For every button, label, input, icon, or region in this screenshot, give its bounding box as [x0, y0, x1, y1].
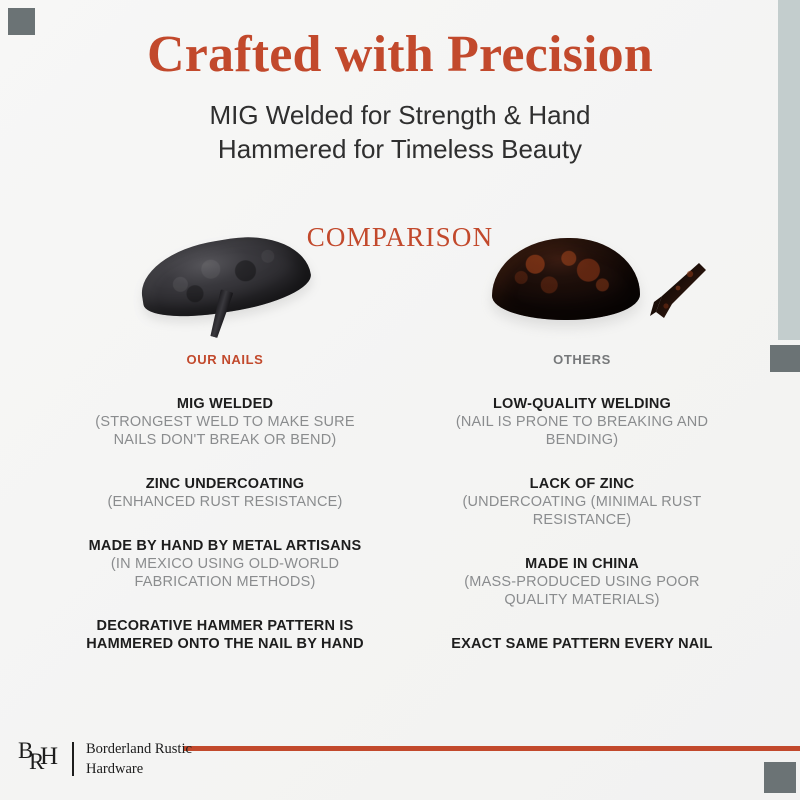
feature-detail: (MASS-PRODUCED USING POOR QUALITY MATERI…: [432, 573, 732, 609]
column-others: OTHERS LOW-QUALITY WELDING (NAIL IS PRON…: [432, 352, 732, 679]
infographic-poster: Crafted with Precision MIG Welded for St…: [0, 0, 800, 800]
feature-item: MADE IN CHINA (MASS-PRODUCED USING POOR …: [432, 555, 732, 609]
feature-title: LACK OF ZINC: [432, 475, 732, 493]
feature-detail: (UNDERCOATING (MINIMAL RUST RESISTANCE): [432, 493, 732, 529]
other-nail-photo: [470, 218, 750, 346]
our-nail-photo: [110, 218, 390, 346]
page-title: Crafted with Precision: [0, 24, 800, 86]
feature-detail: (STRONGEST WELD TO MAKE SURE NAILS DON'T…: [75, 413, 375, 449]
feature-detail: (ENHANCED RUST RESISTANCE): [75, 493, 375, 511]
decor-square-mid-right: [770, 345, 800, 372]
feature-item: EXACT SAME PATTERN EVERY NAIL: [432, 635, 732, 653]
brand-lockup: B R H Borderland Rustic Hardware: [18, 735, 206, 783]
feature-item: MIG WELDED (STRONGEST WELD TO MAKE SURE …: [75, 395, 375, 449]
feature-item: ZINC UNDERCOATING (ENHANCED RUST RESISTA…: [75, 475, 375, 511]
column-label-others: OTHERS: [432, 352, 732, 367]
feature-item: DECORATIVE HAMMER PATTERN IS HAMMERED ON…: [75, 617, 375, 653]
column-our-nails: OUR NAILS MIG WELDED (STRONGEST WELD TO …: [75, 352, 375, 679]
svg-text:H: H: [40, 743, 58, 770]
brand-name: Borderland Rustic Hardware: [86, 739, 206, 779]
decor-square-bottom-right: [764, 762, 796, 793]
feature-title: ZINC UNDERCOATING: [75, 475, 375, 493]
column-label-our-nails: OUR NAILS: [75, 352, 375, 367]
other-nail-head: [492, 238, 640, 320]
feature-title: MADE IN CHINA: [432, 555, 732, 573]
feature-item: MADE BY HAND BY METAL ARTISANS (IN MEXIC…: [75, 537, 375, 591]
page-subtitle: MIG Welded for Strength & Hand Hammered …: [165, 98, 635, 166]
brh-monogram-logo: B R H: [18, 738, 64, 780]
feature-item: LOW-QUALITY WELDING (NAIL IS PRONE TO BR…: [432, 395, 732, 449]
feature-title: EXACT SAME PATTERN EVERY NAIL: [432, 635, 732, 653]
feature-detail: (NAIL IS PRONE TO BREAKING AND BENDING): [432, 413, 732, 449]
feature-item: LACK OF ZINC (UNDERCOATING (MINIMAL RUST…: [432, 475, 732, 529]
brand-divider: [72, 742, 74, 776]
footer-divider-rule: [183, 746, 800, 751]
feature-detail: (IN MEXICO USING OLD-WORLD FABRICATION M…: [75, 555, 375, 591]
feature-title: MIG WELDED: [75, 395, 375, 413]
headline-block: Crafted with Precision MIG Welded for St…: [0, 24, 800, 166]
feature-title: MADE BY HAND BY METAL ARTISANS: [75, 537, 375, 555]
feature-title: LOW-QUALITY WELDING: [432, 395, 732, 413]
other-nail-broken-shank: [638, 260, 708, 322]
feature-title: DECORATIVE HAMMER PATTERN IS HAMMERED ON…: [75, 617, 375, 653]
